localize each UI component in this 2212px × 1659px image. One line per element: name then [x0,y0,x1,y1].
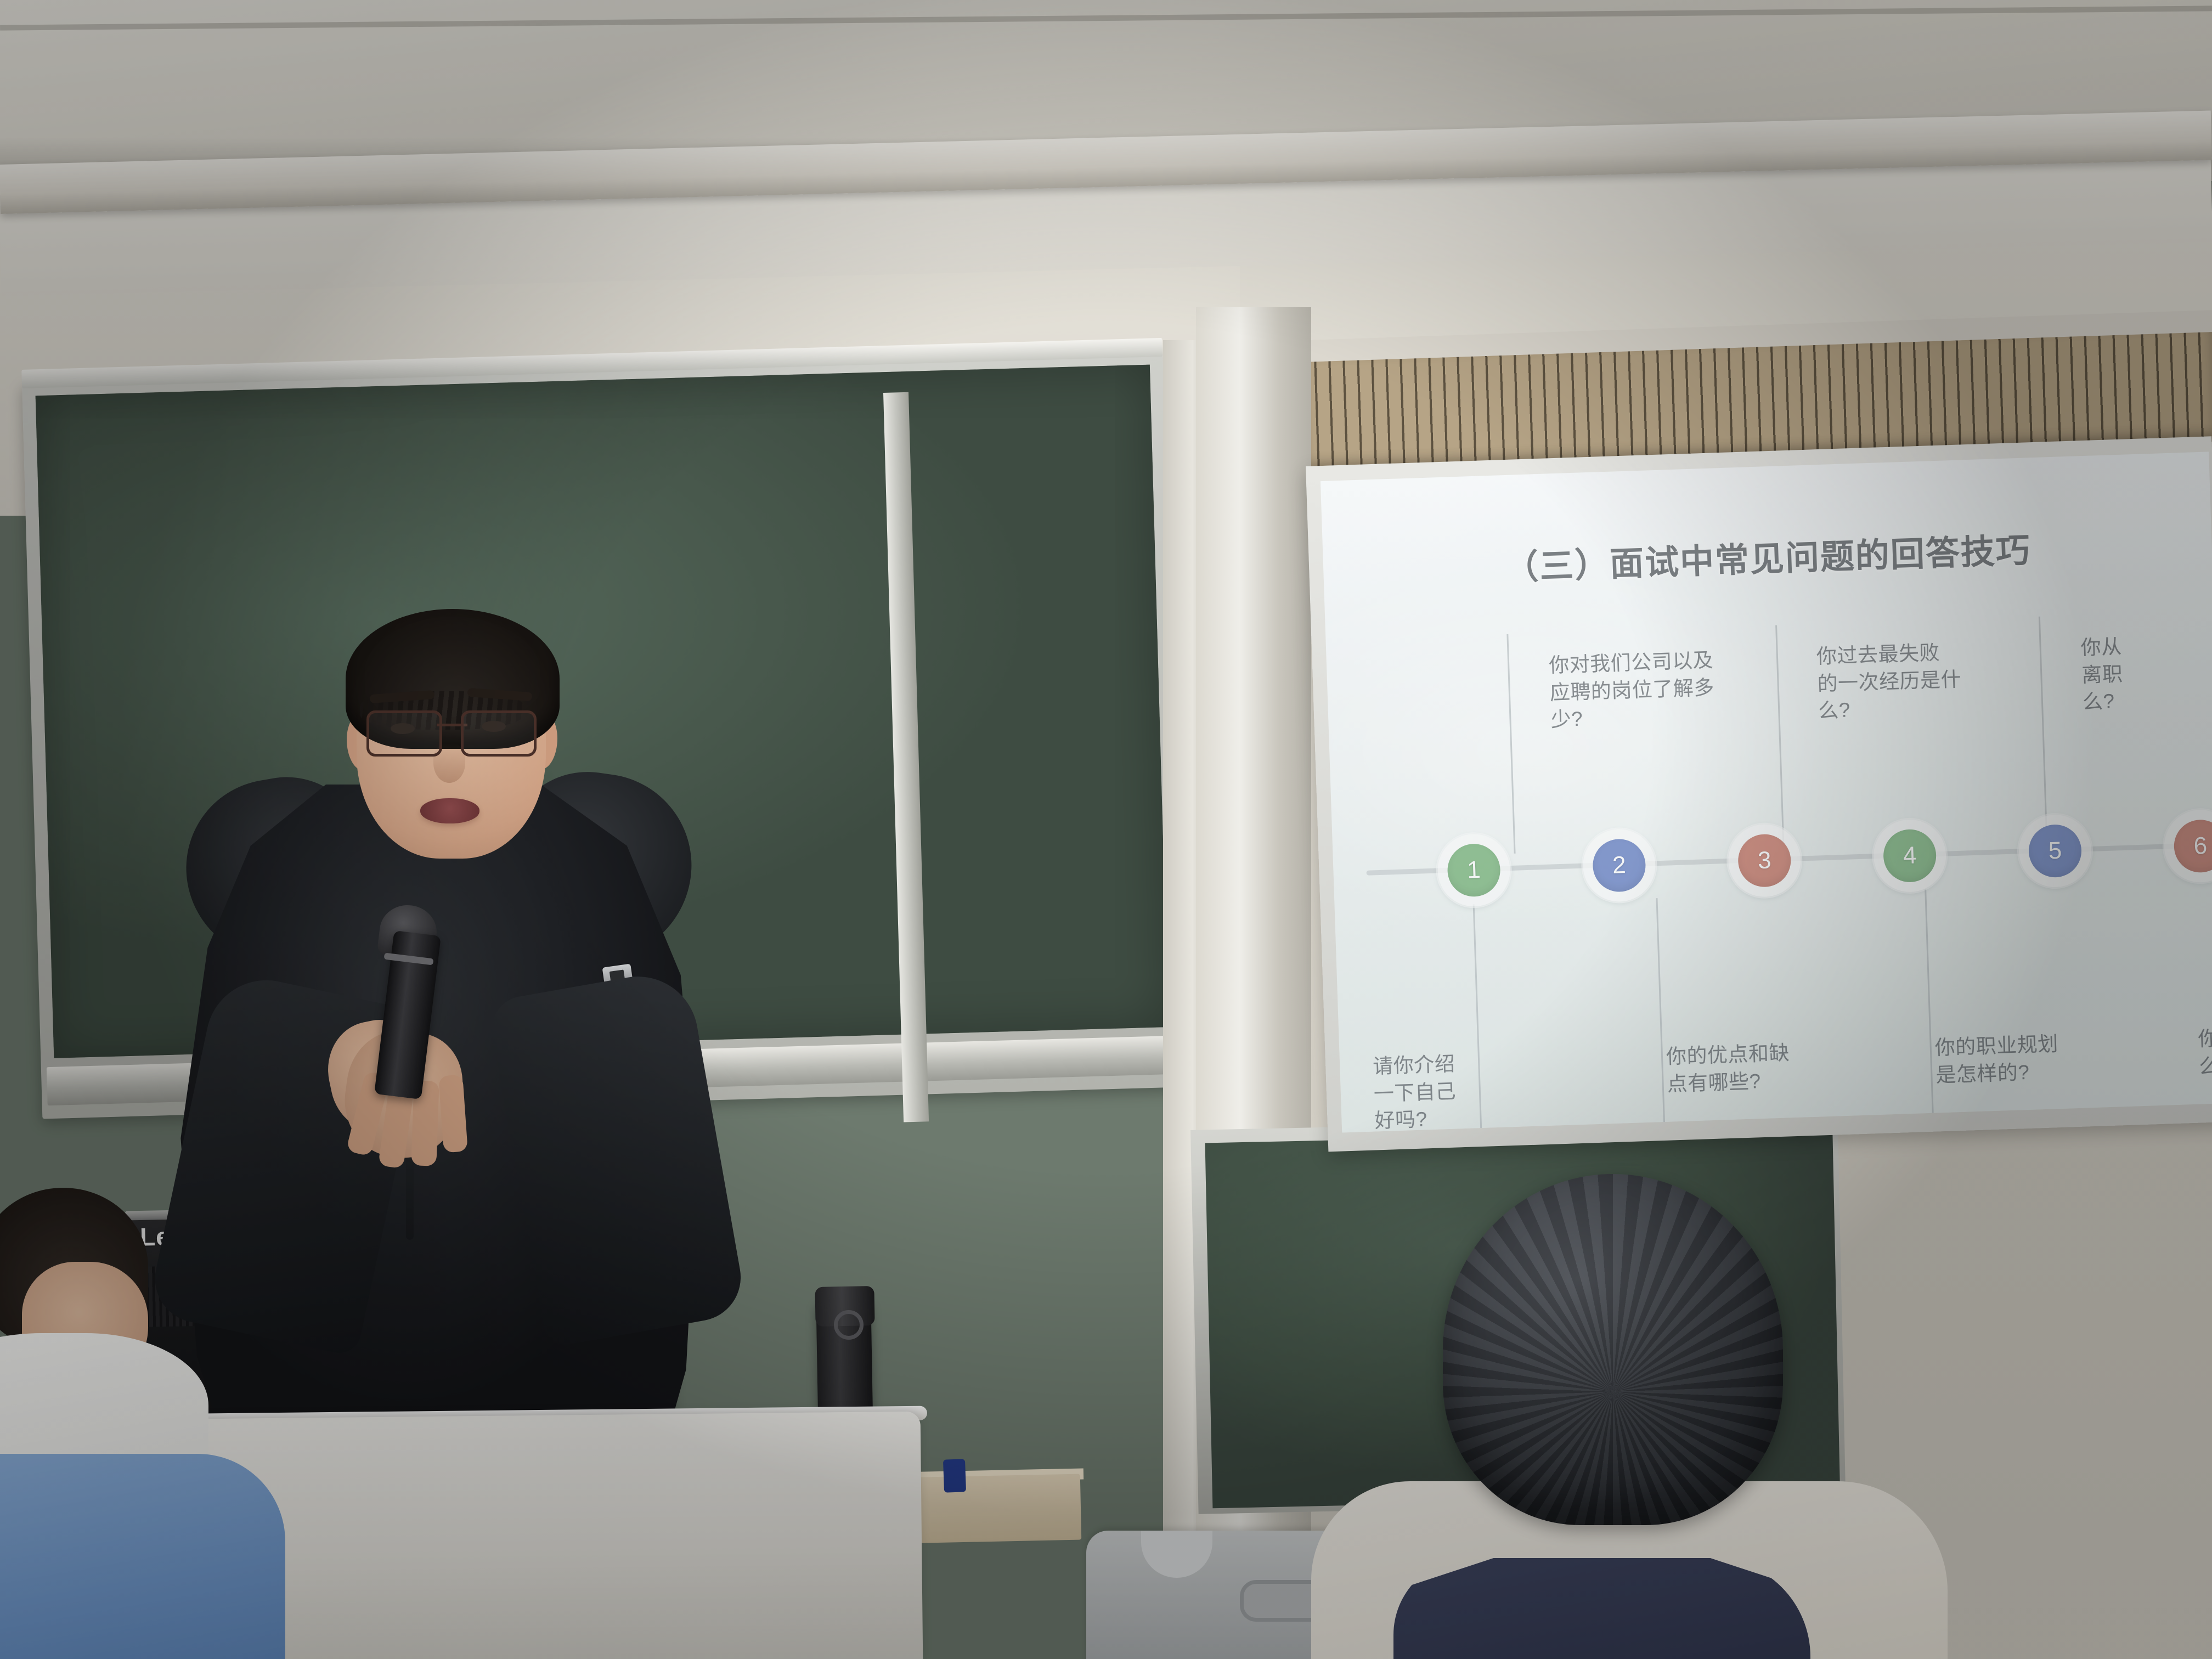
timeline-node-4[interactable]: 4 [1872,819,1947,893]
leader-line-3 [1620,898,1666,1130]
classroom-photo: （三）面试中常见问题的回答技巧 [0,0,2212,1659]
leader-line-5 [1888,889,1934,1121]
node-number-5: 5 [2048,837,2062,865]
timeline-node-2[interactable]: 2 [1582,828,1656,902]
node-number-1: 1 [1467,856,1481,884]
timeline-node-6[interactable]: 6 [2163,809,2212,883]
question-label-4: 你过去最失败 的一次经历是什 么? [1816,637,1994,725]
student-left-jacket [0,1454,285,1659]
lens-left [366,710,442,757]
timeline-node-1[interactable]: 1 [1436,833,1511,907]
node-disc-5: 5 [2028,824,2082,878]
lens-right [461,710,537,757]
blue-object-on-desk [943,1459,966,1492]
slide-canvas: （三）面试中常见问题的回答技巧 [1321,452,2212,1132]
side-desk [899,1474,1081,1544]
leader-line-2 [1506,633,1552,854]
question-label-7: 你 么 [2198,1020,2212,1080]
node-disc-4: 4 [1883,828,1937,883]
student-right-collar [1393,1558,1810,1659]
slide-title: （三）面试中常见问题的回答技巧 [1323,516,2212,595]
node-disc-1: 1 [1447,843,1501,898]
node-disc-6: 6 [2173,819,2212,873]
question-label-2: 你对我们公司以及 应聘的岗位了解多 少? [1548,646,1726,733]
node-number-4: 4 [1903,842,1917,870]
beanie-shading [1443,1174,1783,1525]
question-label-5: 你的职业规划 是怎样的? [1934,1029,2112,1089]
node-number-3: 3 [1757,847,1771,874]
question-label-6: 你从 离职 么? [2080,629,2212,716]
node-number-2: 2 [1612,851,1626,879]
eyeglasses-icon [366,710,537,753]
leader-line-4 [1775,624,1821,844]
projector-screen: （三）面试中常见问题的回答技巧 [1306,436,2212,1152]
node-disc-3: 3 [1737,833,1792,888]
node-number-6: 6 [2193,832,2208,860]
node-disc-2: 2 [1592,838,1646,893]
question-label-3: 你的优点和缺 点有哪些? [1666,1037,1843,1098]
speaker-mouth [420,798,479,823]
leader-line-6 [2039,616,2084,836]
question-label-1: 请你介绍 一下自己 好吗? [1373,1047,1551,1133]
